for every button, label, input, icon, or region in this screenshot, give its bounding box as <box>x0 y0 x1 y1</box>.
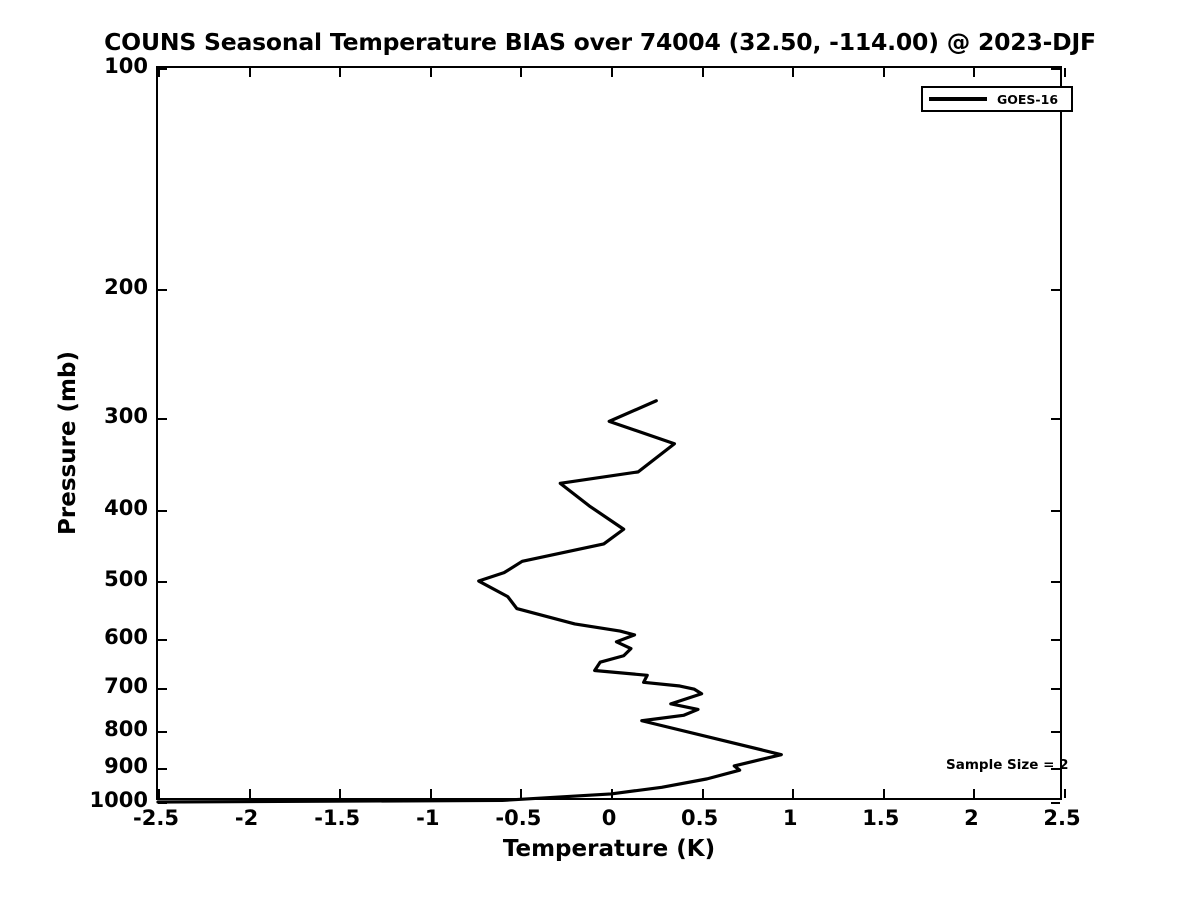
x-tick-top <box>430 68 432 77</box>
y-tick-label: 900 <box>104 754 148 778</box>
y-tick <box>158 802 167 804</box>
x-tick-label: 1 <box>783 806 798 830</box>
x-tick-top <box>611 68 613 77</box>
x-tick-label: 0.5 <box>681 806 718 830</box>
data-canvas <box>158 68 1064 802</box>
x-tick <box>339 789 341 798</box>
x-tick-label: -2 <box>235 806 258 830</box>
y-tick-right <box>1051 639 1060 641</box>
y-tick <box>158 731 167 733</box>
x-tick <box>430 789 432 798</box>
chart-title: COUNS Seasonal Temperature BIAS over 740… <box>0 28 1200 56</box>
y-tick-label: 100 <box>104 54 148 78</box>
x-tick <box>611 789 613 798</box>
sample-size-annotation: Sample Size = 2 <box>946 757 1069 773</box>
y-tick-label: 700 <box>104 674 148 698</box>
x-tick-top <box>1064 68 1066 77</box>
series-line-goes-16 <box>158 401 781 802</box>
y-tick <box>158 418 167 420</box>
y-tick-label: 400 <box>104 496 148 520</box>
x-tick <box>158 789 160 798</box>
y-tick-right <box>1051 510 1060 512</box>
x-tick <box>249 789 251 798</box>
y-tick-label: 200 <box>104 275 148 299</box>
x-tick-label: -0.5 <box>495 806 541 830</box>
y-tick-label: 1000 <box>90 788 148 812</box>
x-tick-label: -1.5 <box>314 806 360 830</box>
x-tick-label: 2.5 <box>1043 806 1080 830</box>
y-tick-right <box>1051 802 1060 804</box>
chart-figure: COUNS Seasonal Temperature BIAS over 740… <box>0 0 1200 900</box>
legend-label-goes-16: GOES-16 <box>997 92 1058 107</box>
y-tick-right <box>1051 581 1060 583</box>
x-tick-top <box>792 68 794 77</box>
legend: GOES-16 <box>921 86 1073 112</box>
x-tick <box>883 789 885 798</box>
y-tick-label: 800 <box>104 717 148 741</box>
y-tick <box>158 510 167 512</box>
x-tick-top <box>339 68 341 77</box>
x-tick-top <box>249 68 251 77</box>
x-axis-label: Temperature (K) <box>156 836 1062 862</box>
x-tick-top <box>520 68 522 77</box>
y-tick-label: 600 <box>104 625 148 649</box>
x-tick <box>702 789 704 798</box>
x-tick-label: -1 <box>416 806 439 830</box>
y-tick <box>158 768 167 770</box>
x-tick-label: 1.5 <box>862 806 899 830</box>
x-tick-top <box>702 68 704 77</box>
y-axis-label: Pressure (mb) <box>55 313 81 573</box>
x-tick-label: 0 <box>602 806 617 830</box>
y-tick-label: 500 <box>104 567 148 591</box>
x-tick-top <box>883 68 885 77</box>
x-tick <box>973 789 975 798</box>
y-tick-right <box>1051 731 1060 733</box>
x-tick <box>792 789 794 798</box>
y-tick <box>158 688 167 690</box>
y-tick-right <box>1051 688 1060 690</box>
y-tick-right <box>1051 289 1060 291</box>
x-tick <box>1064 789 1066 798</box>
y-tick <box>158 581 167 583</box>
x-tick-top <box>973 68 975 77</box>
y-tick <box>158 68 167 70</box>
x-tick-label: 2 <box>964 806 979 830</box>
y-tick-label: 300 <box>104 404 148 428</box>
plot-area <box>156 66 1062 800</box>
y-tick <box>158 639 167 641</box>
legend-line-swatch <box>929 97 987 101</box>
y-tick-right <box>1051 418 1060 420</box>
y-tick-right <box>1051 68 1060 70</box>
y-tick <box>158 289 167 291</box>
x-tick <box>520 789 522 798</box>
